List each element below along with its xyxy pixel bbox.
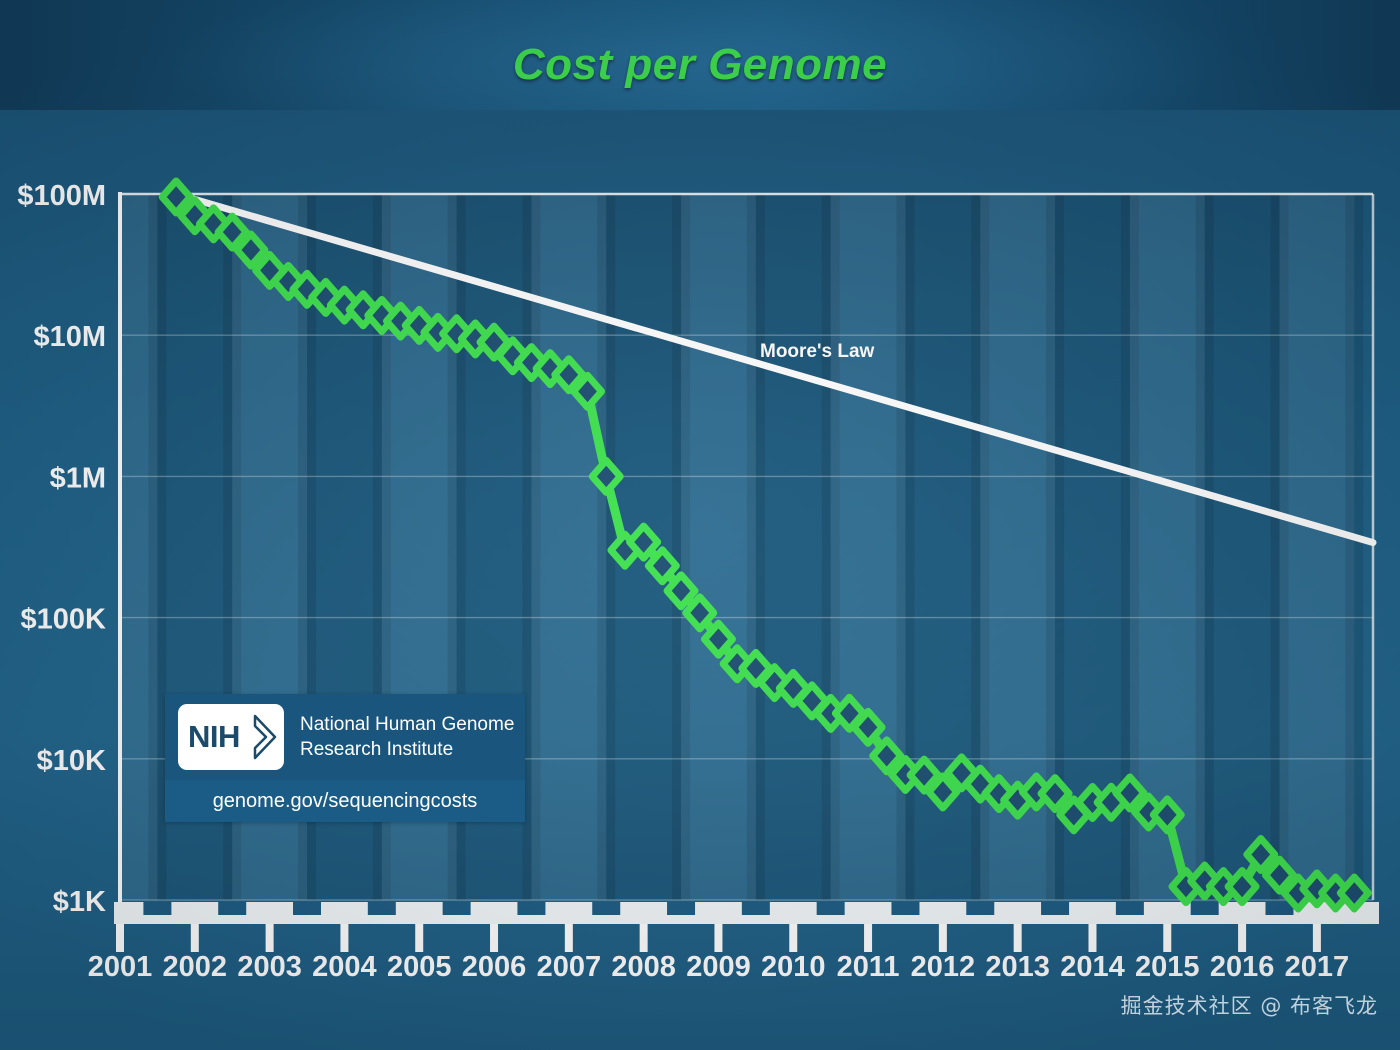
nih-name-line1: National Human Genome bbox=[300, 712, 514, 737]
y-axis-tick-label: $100M bbox=[17, 180, 106, 212]
year-band bbox=[756, 194, 831, 900]
nih-wordmark: NIH bbox=[178, 704, 284, 770]
nih-institute-name: National Human Genome Research Institute bbox=[300, 712, 514, 762]
x-axis-notch bbox=[966, 902, 994, 915]
x-axis-tick-label: 2005 bbox=[387, 951, 452, 983]
x-axis-notch bbox=[218, 902, 246, 915]
x-axis-notch bbox=[667, 902, 695, 915]
watermark-text: 掘金技术社区 @ 布客飞龙 bbox=[1121, 990, 1378, 1020]
x-axis-tick bbox=[1313, 924, 1321, 952]
x-axis-tick bbox=[565, 924, 573, 952]
x-axis-tick-label: 2004 bbox=[312, 951, 377, 983]
x-axis-notch bbox=[1191, 902, 1219, 915]
year-band bbox=[831, 194, 906, 900]
nih-logo[interactable]: NIH National Human Genome Research Insti… bbox=[165, 694, 525, 822]
x-axis-tick bbox=[789, 924, 797, 952]
year-band-divider bbox=[1345, 194, 1363, 900]
x-axis-tick bbox=[1238, 924, 1246, 952]
x-axis-tick-label: 2002 bbox=[163, 951, 228, 983]
x-axis-tick bbox=[1088, 924, 1096, 952]
x-axis-tick bbox=[864, 924, 872, 952]
x-axis-tick bbox=[266, 924, 274, 952]
x-axis-tick-label: 2003 bbox=[237, 951, 302, 983]
x-axis-tick-label: 2007 bbox=[537, 951, 602, 983]
year-band bbox=[1279, 194, 1354, 900]
y-axis-tick-label: $10K bbox=[37, 745, 106, 777]
x-axis-tick bbox=[116, 924, 124, 952]
y-axis-tick-label: $100K bbox=[21, 604, 107, 636]
x-axis-tick bbox=[1014, 924, 1022, 952]
x-axis-tick-label: 2006 bbox=[462, 951, 527, 983]
x-axis-notch bbox=[592, 902, 620, 915]
x-axis-tick bbox=[1163, 924, 1171, 952]
x-axis-notch bbox=[891, 902, 919, 915]
y-axis-tick-label: $1M bbox=[50, 462, 106, 494]
x-axis-tick-label: 2009 bbox=[686, 951, 751, 983]
x-axis-tick-label: 2013 bbox=[985, 951, 1050, 983]
y-axis-tick-label: $10M bbox=[33, 321, 106, 353]
nih-logo-top: NIH National Human Genome Research Insti… bbox=[165, 694, 525, 780]
x-axis-notch bbox=[1041, 902, 1069, 915]
cost-per-genome-chart: $100M$10M$1M$100K$10K$1K2001200220032004… bbox=[0, 0, 1400, 1050]
x-axis-tick-label: 2015 bbox=[1135, 951, 1200, 983]
x-axis-tick-label: 2010 bbox=[761, 951, 826, 983]
x-axis-tick bbox=[490, 924, 498, 952]
x-axis-notch bbox=[742, 902, 770, 915]
x-axis-tick-label: 2017 bbox=[1285, 951, 1350, 983]
x-axis-notch bbox=[443, 902, 471, 915]
x-axis-tick-label: 2011 bbox=[837, 951, 900, 983]
x-axis-tick-label: 2008 bbox=[611, 951, 676, 983]
chart-container: $100M$10M$1M$100K$10K$1K2001200220032004… bbox=[0, 0, 1400, 1050]
x-axis-notch bbox=[293, 902, 321, 915]
x-axis-tick bbox=[939, 924, 947, 952]
x-axis-notch bbox=[143, 902, 171, 915]
x-axis-tick bbox=[191, 924, 199, 952]
nih-mark-text: NIH bbox=[188, 719, 240, 755]
year-band bbox=[1205, 194, 1280, 900]
x-axis-tick-label: 2001 bbox=[88, 951, 153, 983]
x-axis-tick-label: 2012 bbox=[911, 951, 976, 983]
x-axis-tick-label: 2014 bbox=[1060, 951, 1125, 983]
x-axis-tick bbox=[340, 924, 348, 952]
chevron-right-icon bbox=[253, 714, 279, 760]
nih-url-link[interactable]: genome.gov/sequencingcosts bbox=[165, 780, 525, 822]
nih-name-line2: Research Institute bbox=[300, 737, 514, 762]
x-axis-notch bbox=[817, 902, 845, 915]
year-band bbox=[681, 194, 756, 900]
x-axis-tick bbox=[640, 924, 648, 952]
x-axis-notch bbox=[1116, 902, 1144, 915]
x-axis-notch bbox=[368, 902, 396, 915]
y-axis-tick-label: $1K bbox=[53, 886, 106, 918]
slide-root: Cost per Genome $100M$10M$1M$100K$10K$1K… bbox=[0, 0, 1400, 1050]
x-axis-tick-label: 2016 bbox=[1210, 951, 1275, 983]
x-axis-tick bbox=[415, 924, 423, 952]
x-axis-tick bbox=[714, 924, 722, 952]
moores-law-label: Moore's Law bbox=[760, 341, 875, 362]
x-axis-notch bbox=[517, 902, 545, 915]
